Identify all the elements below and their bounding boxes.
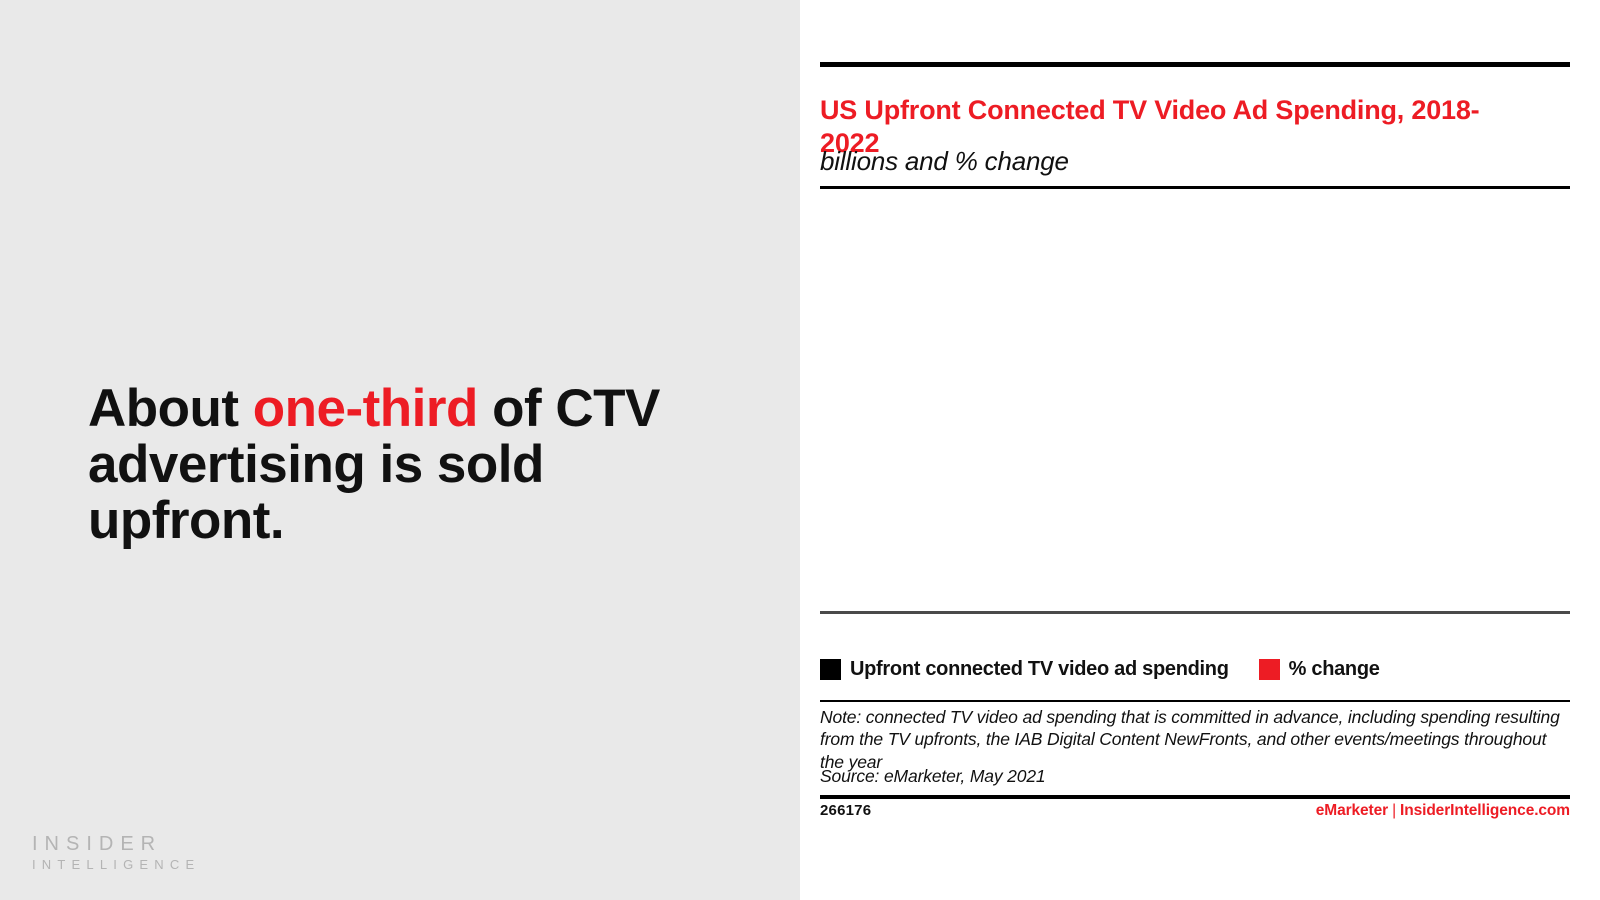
divider-above-footer <box>820 795 1570 799</box>
legend-item-spending: Upfront connected TV video ad spending <box>820 658 1229 681</box>
headline-text-before: About <box>88 379 253 438</box>
chart-panel: US Upfront Connected TV Video Ad Spendin… <box>800 0 1600 900</box>
legend-label-pct-change: % change <box>1289 658 1380 681</box>
chart-note: Note: connected TV video ad spending tha… <box>820 706 1560 773</box>
insider-intelligence-logo: INSIDER INTELLIGENCE <box>32 832 200 874</box>
headline-accent: one-third <box>253 379 478 438</box>
left-headline-panel: About one-third of CTV advertising is so… <box>0 0 800 900</box>
footer-brand-separator: | <box>1388 802 1400 819</box>
footer-chart-id: 266176 <box>820 802 871 819</box>
divider-above-note <box>820 700 1570 702</box>
legend-swatch-black-icon <box>820 659 841 680</box>
footer-brand: eMarketer|InsiderIntelligence.com <box>1316 802 1570 820</box>
chart-subtitle: billions and % change <box>820 146 1069 177</box>
legend-swatch-red-icon <box>1259 659 1280 680</box>
divider-top <box>820 62 1570 67</box>
footer-brand-emarketer: eMarketer <box>1316 802 1388 819</box>
slide-root: About one-third of CTV advertising is so… <box>0 0 1600 900</box>
logo-line-insider: INSIDER <box>32 832 200 857</box>
divider-under-subtitle <box>820 186 1570 189</box>
footer-brand-site: InsiderIntelligence.com <box>1400 802 1570 819</box>
legend-item-pct-change: % change <box>1259 658 1380 681</box>
logo-line-intelligence: INTELLIGENCE <box>32 857 200 874</box>
chart-source: Source: eMarketer, May 2021 <box>820 766 1046 787</box>
chart-legend: Upfront connected TV video ad spending %… <box>820 658 1380 681</box>
x-axis-line <box>820 611 1570 614</box>
legend-label-spending: Upfront connected TV video ad spending <box>850 658 1229 681</box>
headline: About one-third of CTV advertising is so… <box>88 381 728 550</box>
